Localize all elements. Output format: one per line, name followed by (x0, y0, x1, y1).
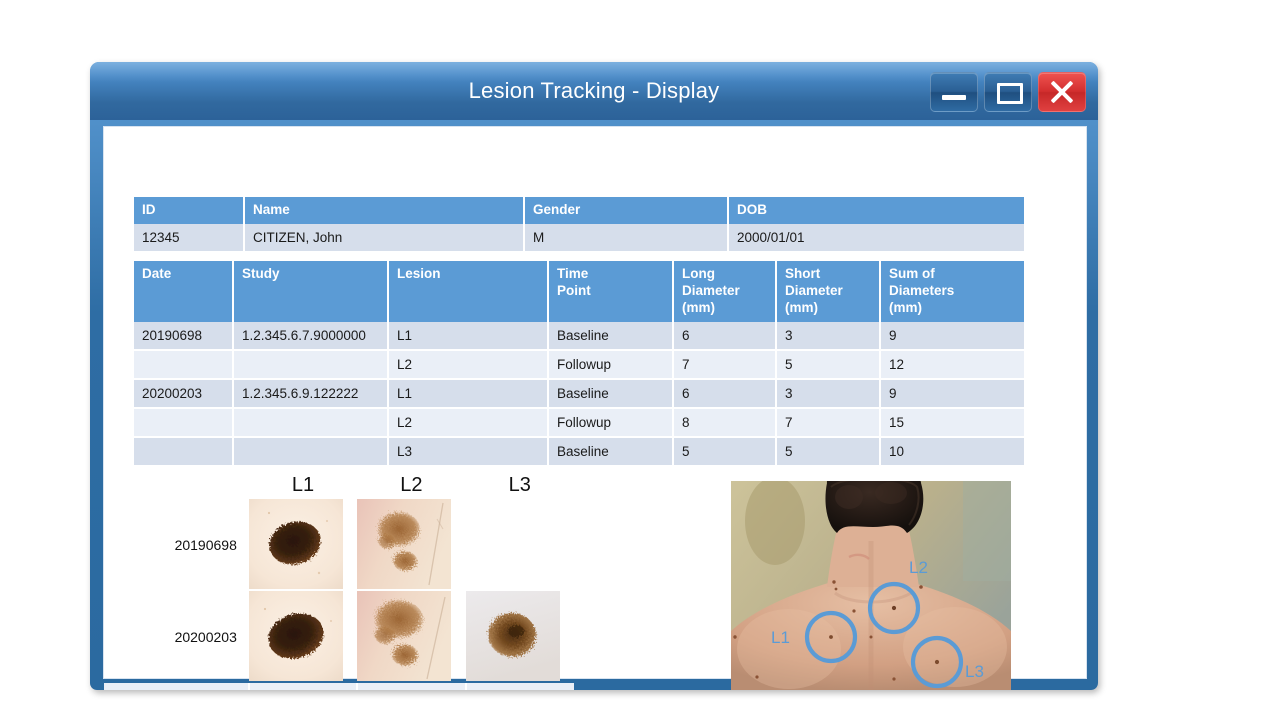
lesion-thumbnail-l2-20200203[interactable] (357, 591, 451, 681)
lesion-header-row: Date Study Lesion Time Point Long Diamet… (134, 261, 1024, 322)
cell-short-diameter: 5 (776, 350, 880, 379)
cell-short-diameter: 5 (776, 437, 880, 466)
cell-date: 20200203 (134, 379, 233, 408)
patient-col-name: Name (244, 197, 524, 224)
cell-lesion: L3 (388, 437, 548, 466)
lesion-image-l2 (357, 499, 451, 589)
cell-sum-diameters: 9 (880, 379, 1024, 408)
cell-lesion: L2 (388, 408, 548, 437)
cell-long-diameter: 8 (673, 408, 776, 437)
lesion-marker-label-l3: L3 (965, 662, 984, 681)
cell-timepoint: Followup (548, 350, 673, 379)
cell-date (134, 437, 233, 466)
lesion-thumbnail-l1-20190698[interactable] (249, 499, 343, 589)
cell-long-diameter: 5 (673, 437, 776, 466)
patient-id: 12345 (134, 224, 244, 252)
hdr-line: (mm) (889, 300, 922, 315)
hdr-line: Sum of (889, 266, 935, 281)
hdr-line: (mm) (785, 300, 818, 315)
grid-col-l2: L2 (357, 471, 465, 499)
cell-study (233, 408, 388, 437)
cell-date (134, 350, 233, 379)
lesion-col-timepoint: Time Point (548, 261, 673, 322)
cell-short-diameter: 3 (776, 379, 880, 408)
lesion-marker-label-l1: L1 (771, 628, 790, 647)
lesion-thumbnail-l2-20190698[interactable] (357, 499, 451, 589)
lesion-image-l3 (466, 591, 560, 681)
lesion-measurements-table: Date Study Lesion Time Point Long Diamet… (134, 261, 1024, 467)
cell-timepoint: Baseline (548, 437, 673, 466)
grid-column-header-row: L1 L2 L3 (104, 471, 574, 499)
thumb-cell-l3-20190698 (466, 499, 574, 591)
change-label: Change (104, 683, 249, 690)
maximize-icon (997, 83, 1023, 104)
hdr-line: Long (682, 266, 715, 281)
hdr-line: Diameter (785, 283, 843, 298)
minimize-button[interactable] (930, 72, 978, 112)
grid-corner (104, 471, 249, 499)
minimize-icon (942, 95, 966, 100)
cell-study (233, 350, 388, 379)
close-button[interactable] (1038, 72, 1086, 112)
cell-short-diameter: 3 (776, 322, 880, 350)
maximize-button[interactable] (984, 72, 1032, 112)
table-row[interactable]: L3 Baseline 5 5 10 (134, 437, 1024, 466)
cell-long-diameter: 6 (673, 379, 776, 408)
lesion-thumbnail-l3-20200203[interactable] (466, 591, 560, 681)
patient-info-table: ID Name Gender DOB 12345 CITIZEN, John M… (134, 197, 1024, 253)
cell-sum-diameters: 9 (880, 322, 1024, 350)
cell-study: 1.2.345.6.9.122222 (233, 379, 388, 408)
lesion-col-date: Date (134, 261, 233, 322)
window-titlebar[interactable]: Lesion Tracking - Display (90, 62, 1098, 120)
lesion-col-long-diameter: Long Diameter (mm) (673, 261, 776, 322)
change-l3-line1: Baseline (474, 689, 535, 690)
cell-short-diameter: 7 (776, 408, 880, 437)
table-row[interactable]: L2 Followup 7 5 12 (134, 350, 1024, 379)
lesion-image-l1-followup (249, 591, 343, 681)
hdr-line: Lesion (397, 266, 441, 281)
change-l2-line1: +3mm (365, 689, 410, 690)
cell-sum-diameters: 15 (880, 408, 1024, 437)
thumb-cell-l3-20200203[interactable] (466, 591, 574, 683)
change-l1-line1: +0mm (257, 689, 302, 690)
lesion-thumbnail-empty (466, 499, 560, 589)
patient-name: CITIZEN, John (244, 224, 524, 252)
cell-long-diameter: 7 (673, 350, 776, 379)
cell-lesion: L2 (388, 350, 548, 379)
change-value-l3: Baseline (466, 683, 574, 690)
hdr-line: (mm) (682, 300, 715, 315)
lesion-col-lesion: Lesion (388, 261, 548, 322)
change-value-l1: +0mm (0%) (249, 683, 357, 690)
patient-header-row: ID Name Gender DOB (134, 197, 1024, 224)
table-row[interactable]: L2 Followup 8 7 15 (134, 408, 1024, 437)
cell-date (134, 408, 233, 437)
grid-row: 20200203 (104, 591, 574, 683)
change-value-l2: +3mm (0mm) (357, 683, 465, 690)
hdr-line: Diameter (682, 283, 740, 298)
cell-study (233, 437, 388, 466)
thumb-cell-l2-20190698[interactable] (357, 499, 465, 591)
lesion-image-l2-followup (357, 591, 451, 681)
patient-col-dob: DOB (728, 197, 1024, 224)
cell-sum-diameters: 10 (880, 437, 1024, 466)
hdr-line: Point (557, 283, 591, 298)
lesion-col-sum-diameters: Sum of Diameters (mm) (880, 261, 1024, 322)
thumb-cell-l1-20200203[interactable] (249, 591, 357, 683)
cell-date: 20190698 (134, 322, 233, 350)
change-summary-row: Change +0mm (0%) +3mm (0mm) Baseline (104, 683, 574, 690)
hdr-line: Diameters (889, 283, 954, 298)
lesion-col-study: Study (233, 261, 388, 322)
table-row[interactable]: 20200203 1.2.345.6.9.122222 L1 Baseline … (134, 379, 1024, 408)
body-photo[interactable]: L1 L2 L3 (731, 481, 1011, 690)
lesion-thumbnail-l1-20200203[interactable] (249, 591, 343, 681)
cell-timepoint: Baseline (548, 322, 673, 350)
grid-row-label-20190698: 20190698 (104, 499, 249, 591)
grid-col-l1: L1 (249, 471, 357, 499)
lesion-marker-label-l2: L2 (909, 558, 928, 577)
lesion-image-l1 (249, 499, 343, 589)
grid-row: 20190698 (104, 499, 574, 591)
patient-gender: M (524, 224, 728, 252)
patient-col-id: ID (134, 197, 244, 224)
lesion-thumbnail-grid: L1 L2 L3 20190698 (104, 471, 634, 690)
hdr-line: Short (785, 266, 820, 281)
lesion-tracking-window: Lesion Tracking - Display (90, 62, 1098, 690)
cell-long-diameter: 6 (673, 322, 776, 350)
hdr-line: Time (557, 266, 588, 281)
cell-lesion: L1 (388, 322, 548, 350)
grid-row-label-20200203: 20200203 (104, 591, 249, 683)
cell-study: 1.2.345.6.7.9000000 (233, 322, 388, 350)
grid-col-l3: L3 (466, 471, 574, 499)
window-controls (930, 72, 1086, 112)
hdr-line: Study (242, 266, 280, 281)
body-photo-image: L1 L2 L3 (731, 481, 1011, 690)
thumb-cell-l1-20190698[interactable] (249, 499, 357, 591)
thumb-cell-l2-20200203[interactable] (357, 591, 465, 683)
app-root: Lesion Tracking - Display (0, 0, 1280, 720)
cell-timepoint: Followup (548, 408, 673, 437)
patient-col-gender: Gender (524, 197, 728, 224)
cell-sum-diameters: 12 (880, 350, 1024, 379)
hdr-line: Date (142, 266, 171, 281)
cell-timepoint: Baseline (548, 379, 673, 408)
lesion-col-short-diameter: Short Diameter (mm) (776, 261, 880, 322)
window-client-area: ID Name Gender DOB 12345 CITIZEN, John M… (103, 126, 1087, 679)
table-row[interactable]: 12345 CITIZEN, John M 2000/01/01 (134, 224, 1024, 252)
patient-dob: 2000/01/01 (728, 224, 1024, 252)
table-row[interactable]: 20190698 1.2.345.6.7.9000000 L1 Baseline… (134, 322, 1024, 350)
cell-lesion: L1 (388, 379, 548, 408)
